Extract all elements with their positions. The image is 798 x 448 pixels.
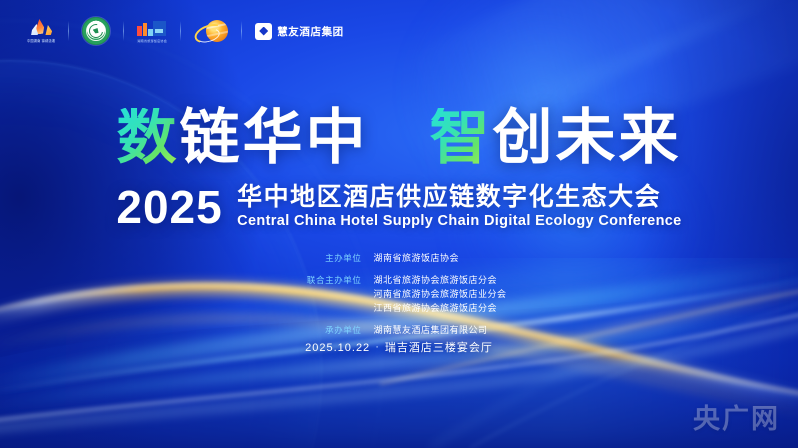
page-subtitle: 2025 华中地区酒店供应链数字化生态大会 Central China Hote… [0, 180, 798, 234]
logo-hotel-association[interactable]: 湖南省旅游饭店协会 [124, 14, 180, 48]
event-date: 2025.10.22 [305, 342, 370, 354]
organizer-row: 主办单位 湖南省旅游饭店协会 [292, 251, 507, 264]
organizer-row: 联合主办单位 江西省旅游协会旅游饭店分会 [292, 301, 507, 314]
headline-phrase-two: 创未来 [492, 108, 681, 168]
organizer-value: 湖南省旅游饭店协会 [362, 251, 507, 264]
organizer-value: 江西省旅游协会旅游饭店分会 [362, 301, 507, 314]
event-venue: 瑞吉酒店三楼宴会厅 [385, 342, 493, 354]
logo-hunan-tourism-torch[interactable]: 中国湖南 锦绣潇湘 [14, 14, 68, 48]
organizer-spacer [292, 265, 507, 272]
globe-icon [194, 20, 228, 42]
torch-icon [30, 19, 52, 36]
partner-logo-strip: 中国湖南 锦绣潇湘 湖南省旅游饭店协会 [14, 14, 357, 48]
logo-caption: 湖南省旅游饭店协会 [137, 38, 167, 43]
logo-huiyou-hotel-group[interactable]: 慧友酒店集团 [242, 14, 357, 48]
organizer-block: 主办单位 湖南省旅游饭店协会 联合主办单位 湖北省旅游协会旅游饭店分会 联合主办… [0, 251, 798, 336]
subtitle-chinese: 华中地区酒店供应链数字化生态大会 [237, 184, 681, 211]
headline-char-zhi: 智 [429, 108, 492, 168]
organizer-row: 承办单位 湖南慧友酒店集团有限公司 [292, 323, 507, 336]
event-datetime-venue: 2025.10.22·瑞吉酒店三楼宴会厅 [0, 338, 798, 356]
organizer-spacer [292, 315, 507, 322]
organizer-row: 联合主办单位 湖北省旅游协会旅游饭店分会 [292, 273, 507, 286]
logo-globe-swoosh[interactable] [181, 14, 241, 48]
organizer-value: 湖南慧友酒店集团有限公司 [362, 323, 507, 336]
headline-char-shu: 数 [117, 108, 180, 168]
event-separator: · [375, 341, 380, 353]
logo-caption: 慧友酒店集团 [277, 24, 344, 39]
headline-phrase-one: 链华中 [180, 108, 369, 168]
logo-green-seal[interactable] [69, 14, 123, 48]
organizer-label: 主办单位 [292, 252, 362, 264]
building-icon [137, 20, 167, 36]
organizer-label: 承办单位 [292, 324, 362, 336]
organizer-label: 联合主办单位 [292, 274, 362, 286]
organizer-value: 湖北省旅游协会旅游饭店分会 [362, 273, 507, 286]
seal-icon [82, 17, 110, 45]
organizer-row: 联合主办单位 河南省旅游协会旅游饭店业分会 [292, 287, 507, 300]
poster-canvas: 中国湖南 锦绣潇湘 湖南省旅游饭店协会 [0, 0, 798, 448]
watermark: 央广网 [693, 397, 780, 436]
page-title: 数链华中 智创未来 [0, 108, 798, 168]
organizer-value: 河南省旅游协会旅游饭店业分会 [361, 287, 506, 300]
logo-caption: 中国湖南 锦绣潇湘 [27, 38, 55, 43]
subtitle-english: Central China Hotel Supply Chain Digital… [237, 212, 681, 231]
subtitle-year: 2025 [116, 180, 222, 234]
diamond-icon [255, 23, 272, 40]
